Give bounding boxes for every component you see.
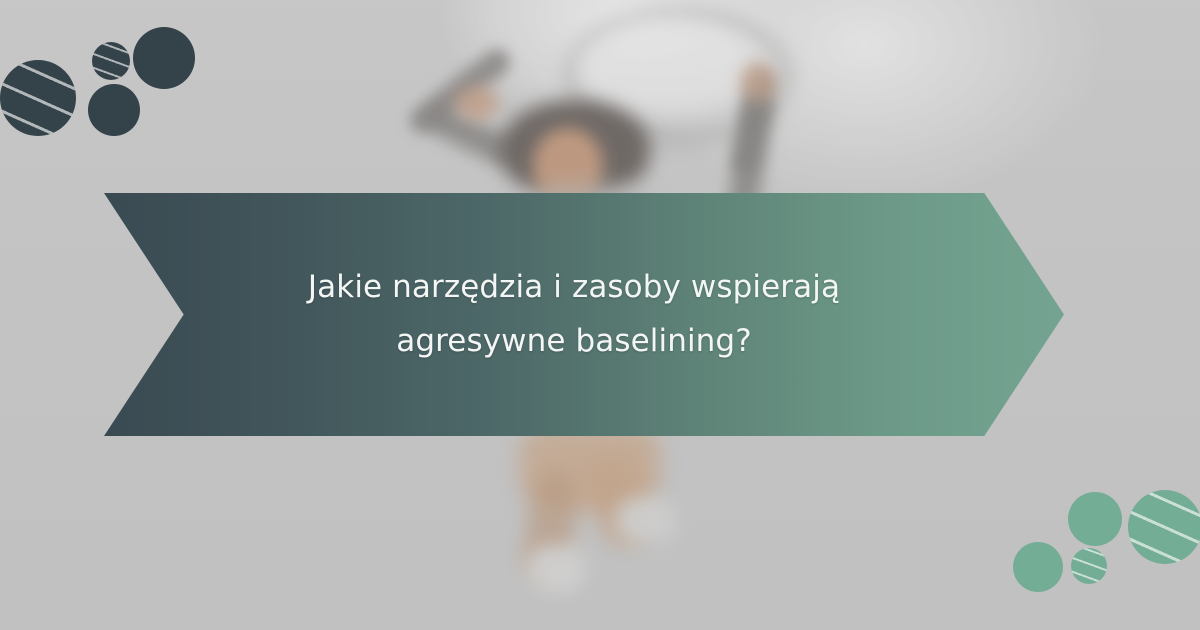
small-striped-circle (92, 42, 130, 80)
large-striped-circle (1128, 490, 1200, 564)
page-title: Jakie narzędzia i zasoby wspierają agres… (234, 261, 914, 368)
headline-banner: Jakie narzędzia i zasoby wspierają agres… (104, 193, 1064, 436)
large-solid-circle (1068, 492, 1122, 546)
large-striped-circle (0, 60, 76, 136)
medium-solid-circle (1013, 542, 1063, 592)
large-solid-circle (133, 27, 195, 89)
small-striped-circle (1071, 548, 1107, 584)
banner-text-area: Jakie narzędzia i zasoby wspierają agres… (234, 193, 914, 436)
medium-solid-circle (88, 84, 140, 136)
share-card-canvas: Jakie narzędzia i zasoby wspierają agres… (0, 0, 1200, 630)
